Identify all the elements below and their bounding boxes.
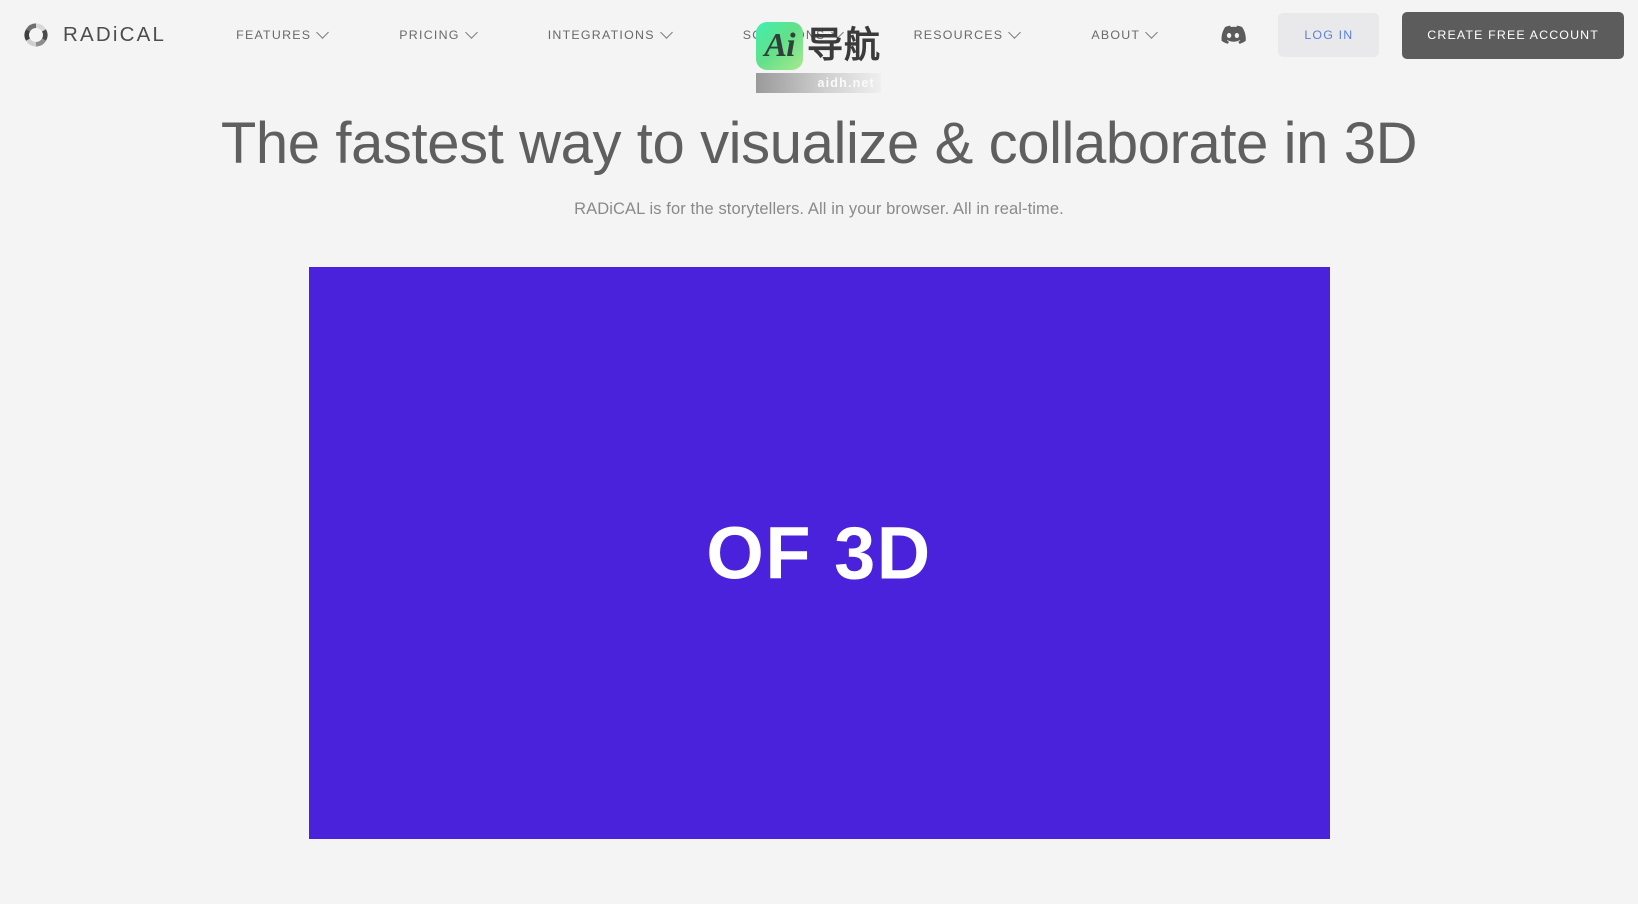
nav-item-label: FEATURES [236, 28, 311, 42]
chevron-down-icon [660, 26, 673, 39]
discord-icon[interactable] [1214, 16, 1252, 54]
hero-video-player[interactable]: OF 3D [309, 267, 1330, 839]
nav-item-label: ABOUT [1091, 28, 1140, 42]
chevron-down-icon [1008, 26, 1021, 39]
header-actions: LOG IN CREATE FREE ACCOUNT [1214, 12, 1624, 59]
nav-item-label: INTEGRATIONS [548, 28, 655, 42]
nav-item-label: SOLUTIONS [743, 28, 826, 42]
nav-item-pricing[interactable]: PRICING [397, 22, 477, 48]
main-navigation: FEATURES PRICING INTEGRATIONS SOLUTIONS … [214, 22, 1214, 48]
nav-item-integrations[interactable]: INTEGRATIONS [546, 22, 673, 48]
radical-circular-mark-icon [22, 21, 50, 49]
chevron-down-icon [316, 26, 329, 39]
create-free-account-button[interactable]: CREATE FREE ACCOUNT [1402, 12, 1624, 59]
nav-item-resources[interactable]: RESOURCES [912, 22, 1022, 48]
chevron-down-icon [1145, 26, 1158, 39]
nav-item-label: RESOURCES [914, 28, 1004, 42]
nav-item-features[interactable]: FEATURES [234, 22, 329, 48]
hero-video-caption: OF 3D [309, 510, 1330, 595]
hero-section: The fastest way to visualize & collabora… [0, 70, 1638, 839]
brand-name: RADiCAL [63, 23, 166, 47]
nav-item-about[interactable]: ABOUT [1089, 22, 1158, 48]
login-button[interactable]: LOG IN [1278, 13, 1379, 57]
site-header: RADiCAL FEATURES PRICING INTEGRATIONS SO… [0, 0, 1638, 70]
chevron-down-icon [465, 26, 478, 39]
nav-item-solutions[interactable]: SOLUTIONS [741, 22, 844, 48]
page-title: The fastest way to visualize & collabora… [0, 112, 1638, 177]
hero-subtitle: RADiCAL is for the storytellers. All in … [0, 200, 1638, 219]
chevron-down-icon [831, 26, 844, 39]
nav-item-label: PRICING [399, 28, 459, 42]
brand-logo-link[interactable]: RADiCAL [22, 21, 166, 49]
